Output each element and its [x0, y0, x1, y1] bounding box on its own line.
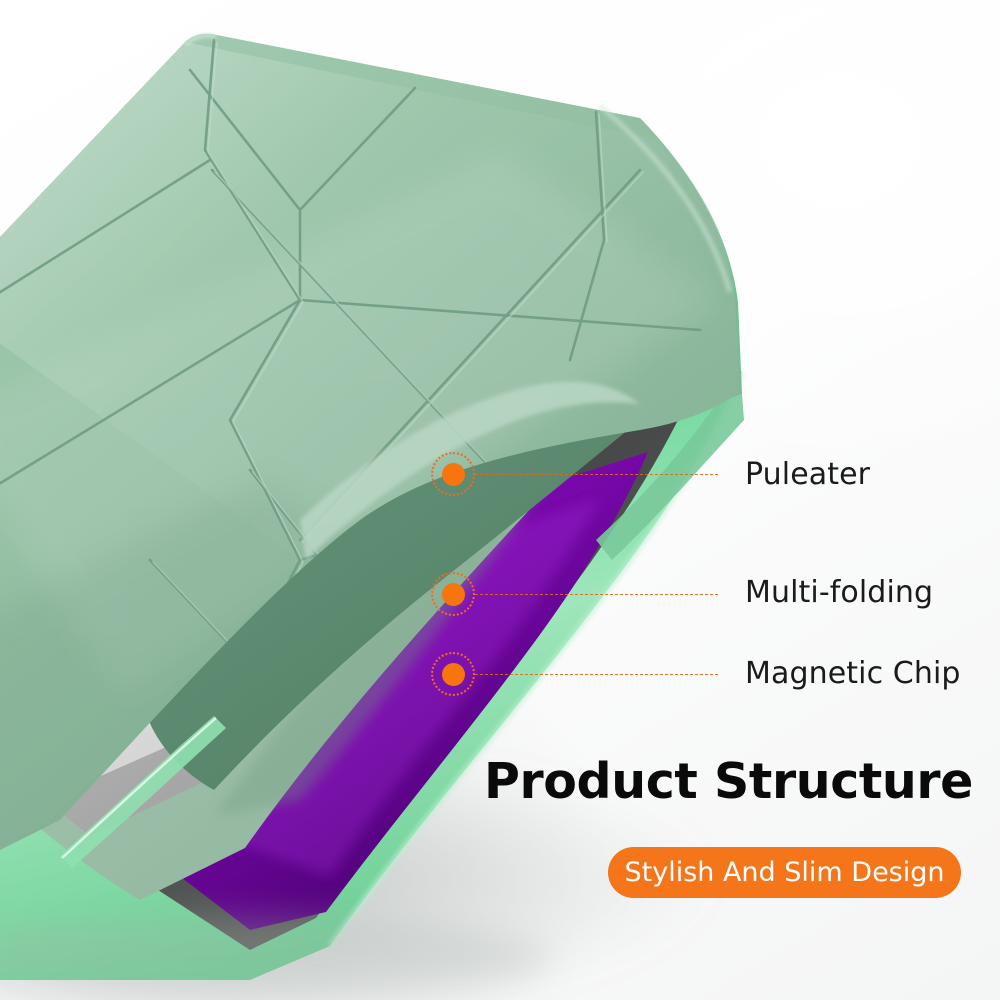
product-infographic: Puleater Multi-folding Magnetic Chip Pro…	[0, 0, 1000, 1000]
callout-marker-magnetic-chip[interactable]	[431, 652, 475, 696]
callout-label-puleater: Puleater	[745, 460, 870, 490]
headline-title: Product Structure	[484, 757, 973, 806]
callout-label-magnetic-chip: Magnetic Chip	[745, 659, 961, 689]
leader-line-puleater	[475, 474, 718, 475]
leader-line-multi-folding	[475, 594, 718, 595]
callout-label-multi-folding: Multi-folding	[745, 578, 933, 608]
callout-marker-multi-folding[interactable]	[431, 572, 475, 616]
leader-line-magnetic-chip	[475, 674, 718, 675]
callout-marker-puleater[interactable]	[431, 452, 475, 496]
tagline-badge: Stylish And Slim Design	[608, 847, 961, 898]
